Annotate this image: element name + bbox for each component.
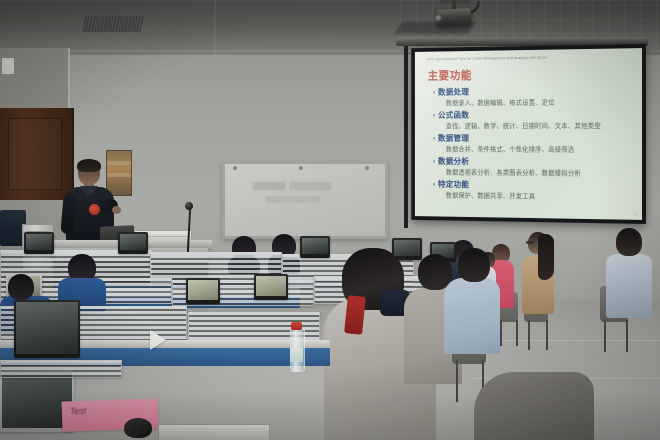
instructor-hair <box>77 159 101 172</box>
gooseneck-microphone <box>185 202 193 210</box>
chair-leg <box>604 320 606 352</box>
slide-section-detail: 数据保护、数据共享、开发工具 <box>446 190 634 202</box>
monitor-screen <box>188 280 218 300</box>
crt-monitor <box>254 274 288 300</box>
monitor-screen <box>16 302 78 354</box>
slide-section-heading: 公式函数 <box>433 108 634 121</box>
door-panel <box>8 118 62 190</box>
projector-lens <box>435 15 443 23</box>
bullet-icon <box>433 91 435 93</box>
student-front-gray-blazer <box>474 372 594 440</box>
crt-monitor <box>186 278 220 304</box>
student-torso <box>444 278 500 354</box>
classroom-photo: WPS Spreadsheet Tutorial | Data Manageme… <box>0 0 660 440</box>
slide-section: 数据处理 数据录入、数据编辑、格式设置、定位 <box>433 84 634 107</box>
pink-desk-sticker-text: Test <box>70 406 87 417</box>
bullet-icon <box>433 137 435 139</box>
whiteboard-mount <box>365 166 369 170</box>
slide-section: 数据管理 数据合并、条件格式、个性化排序、高级筛选 <box>433 132 634 154</box>
slide-section-detail: 数据透视表分析、各类图表分析、数据模拟分析 <box>446 167 634 178</box>
computer-mouse[interactable] <box>124 418 152 438</box>
desk-keyboard[interactable] <box>158 424 270 440</box>
student-head <box>616 228 642 256</box>
slide-section-detail: 查找、逻辑、数学、统计、日期时间、文本、其他类型 <box>446 120 634 130</box>
student-head <box>458 248 490 282</box>
presentation-slide: WPS Spreadsheet Tutorial | Data Manageme… <box>415 48 642 220</box>
whiteboard-mount <box>233 166 237 170</box>
slide-section-heading-text: 数据管理 <box>438 132 469 144</box>
student-torso <box>474 372 594 440</box>
projection-screen: WPS Spreadsheet Tutorial | Data Manageme… <box>411 44 646 224</box>
student-torso <box>606 254 652 318</box>
whiteboard <box>222 161 388 239</box>
slide-section-heading-text: 公式函数 <box>438 109 469 121</box>
chair-leg <box>500 320 502 346</box>
student-right-blue-shirt <box>606 228 652 316</box>
crt-monitor <box>24 232 54 254</box>
whiteboard-erased-writing <box>253 180 361 210</box>
screen-side-frame <box>404 46 408 228</box>
student-tan-coat <box>522 232 554 310</box>
slide-section-detail: 数据合并、条件格式、个性化排序、高级筛选 <box>446 144 634 154</box>
crt-monitor <box>14 300 80 358</box>
chair-leg <box>456 360 458 402</box>
slide-section: 特定功能 数据保护、数据共享、开发工具 <box>433 178 634 202</box>
ceiling-projector <box>437 8 472 27</box>
slide-section-heading-text: 数据分析 <box>438 155 469 167</box>
water-bottle-cap <box>291 322 302 330</box>
slide-title: 主要功能 <box>428 67 472 83</box>
chair-leg <box>626 320 628 352</box>
slide-body: 数据处理 数据录入、数据编辑、格式设置、定位 公式函数 查找、逻辑、数学、统计、… <box>433 84 634 204</box>
wall-notice-paper <box>2 58 14 74</box>
slide-page-number: 8 <box>635 213 637 217</box>
student-long-hair <box>538 234 554 280</box>
slide-section: 数据分析 数据透视表分析、各类图表分析、数据模拟分析 <box>433 155 634 178</box>
folded-paper <box>150 330 166 350</box>
slide-section-heading-text: 数据处理 <box>438 86 469 98</box>
slide-section: 公式函数 查找、逻辑、数学、统计、日期时间、文本、其他类型 <box>433 108 634 130</box>
slide-section-heading: 数据管理 <box>433 132 634 144</box>
bullet-icon <box>433 114 435 116</box>
ceiling-grid-line <box>214 0 216 56</box>
slide-section-heading-text: 特定功能 <box>438 178 469 190</box>
instructor-hand <box>112 206 121 214</box>
eyeglasses-icon <box>526 241 534 244</box>
crt-monitor <box>118 232 148 254</box>
chair-leg <box>546 320 548 350</box>
water-bottle-label <box>290 348 303 362</box>
desk-privacy-partition <box>0 360 122 378</box>
chair-leg <box>516 320 518 346</box>
slide-section-detail: 数据录入、数据编辑、格式设置、定位 <box>446 96 634 107</box>
instructor-shirt-logo <box>89 204 100 215</box>
student-light-blue-shirt <box>444 248 500 352</box>
wooden-door[interactable] <box>0 108 74 200</box>
ceiling-air-vent <box>82 16 143 32</box>
bullet-icon <box>433 183 435 185</box>
chair-leg <box>528 320 530 350</box>
whiteboard-mount <box>299 166 303 170</box>
monitor-screen <box>256 276 286 296</box>
monitor-screen <box>120 234 146 250</box>
bullet-icon <box>433 160 435 162</box>
student-head <box>8 274 34 300</box>
slide-header-text: WPS Spreadsheet Tutorial | Data Manageme… <box>427 54 634 61</box>
monitor-screen <box>26 234 52 250</box>
